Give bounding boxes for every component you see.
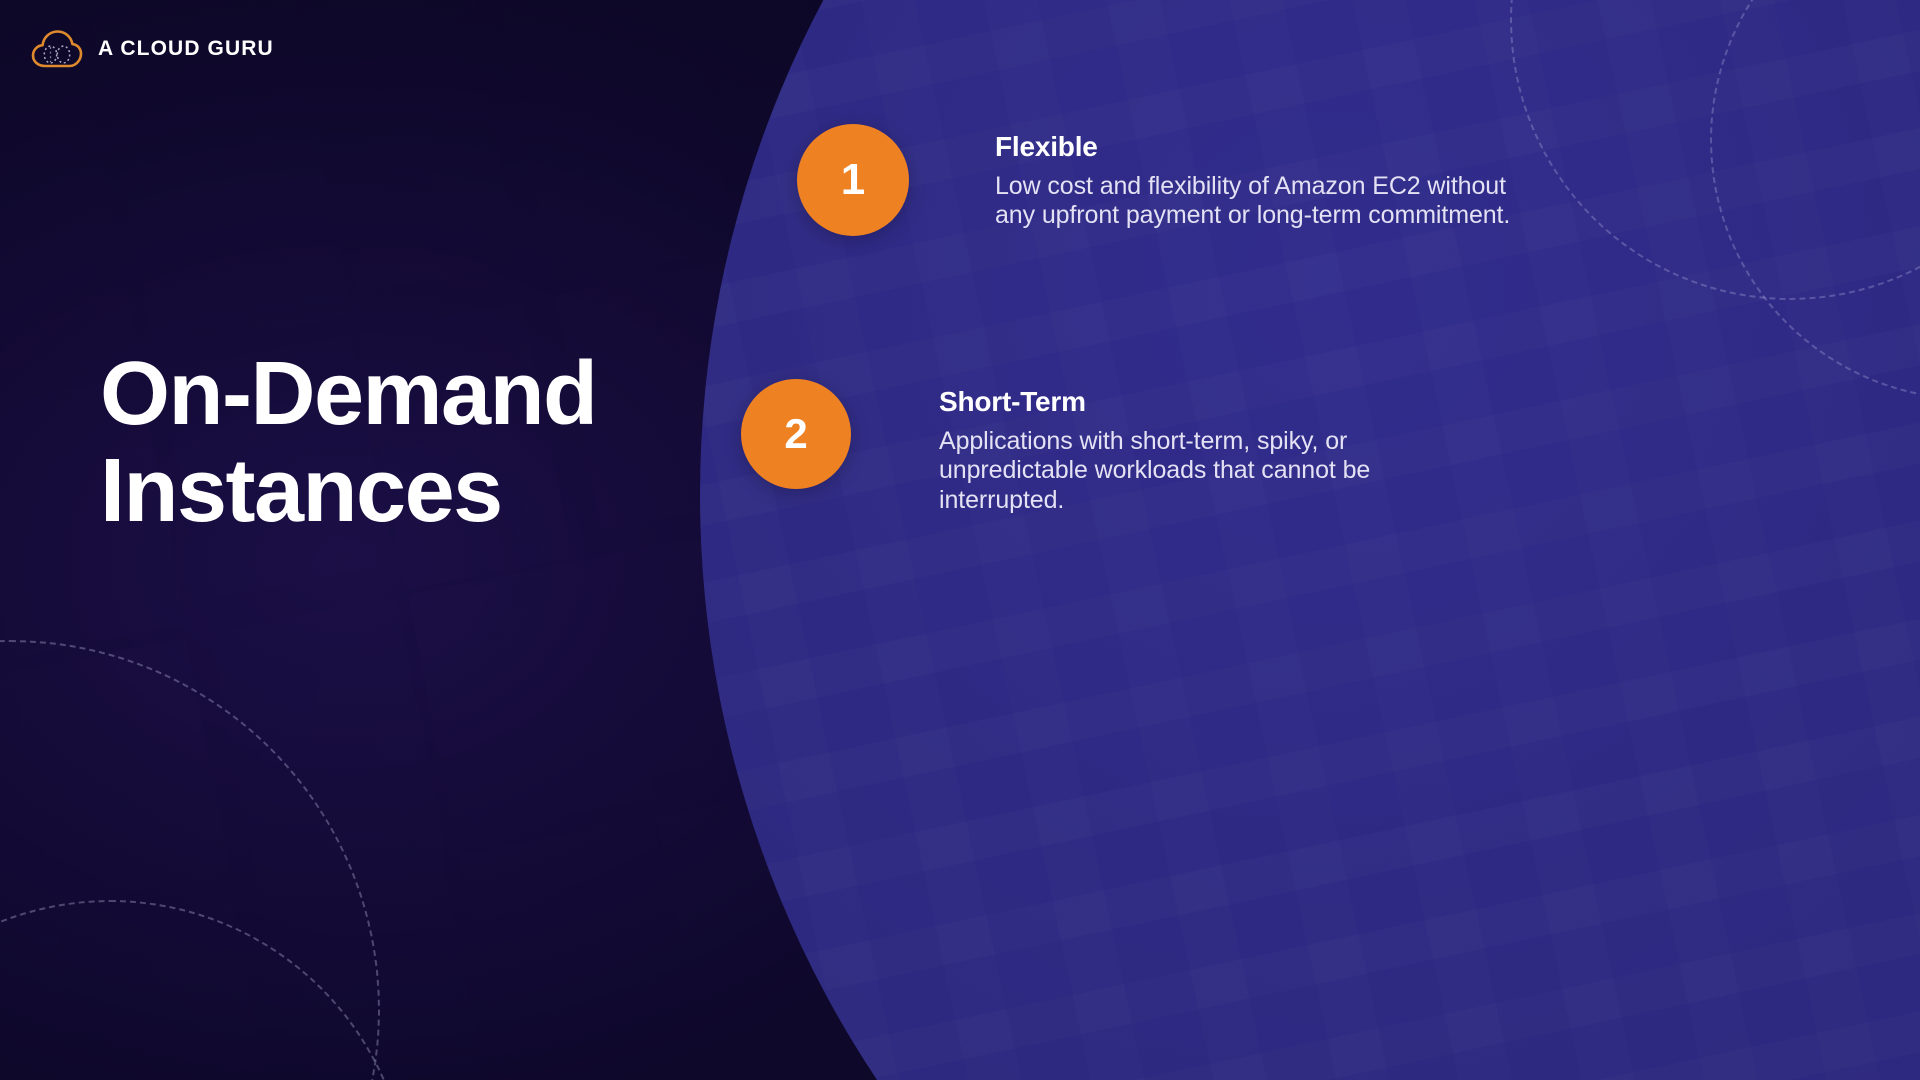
presentation-slide: A CLOUD GURU On-Demand Instances 1 Flexi… bbox=[0, 0, 1920, 1080]
point-content: Short-Term Applications with short-term,… bbox=[939, 379, 1419, 516]
point-number-badge: 2 bbox=[741, 379, 851, 489]
point-description: Low cost and flexibility of Amazon EC2 w… bbox=[995, 172, 1515, 232]
point-content: Flexible Low cost and flexibility of Ama… bbox=[995, 124, 1515, 231]
brand-name: A CLOUD GURU bbox=[98, 37, 274, 61]
point-number-badge: 1 bbox=[797, 124, 909, 236]
bullet-point-1: 1 Flexible Low cost and flexibility of A… bbox=[797, 124, 1515, 236]
title-line-2: Instances bbox=[100, 441, 502, 541]
cloud-icon bbox=[30, 28, 84, 70]
point-title: Flexible bbox=[995, 130, 1515, 164]
point-description: Applications with short-term, spiky, or … bbox=[939, 427, 1419, 516]
bullet-point-2: 2 Short-Term Applications with short-ter… bbox=[741, 379, 1419, 516]
title-line-1: On-Demand bbox=[100, 344, 597, 444]
point-title: Short-Term bbox=[939, 385, 1419, 419]
brand-logo: A CLOUD GURU bbox=[30, 28, 274, 70]
page-title: On-Demand Instances bbox=[100, 346, 740, 540]
